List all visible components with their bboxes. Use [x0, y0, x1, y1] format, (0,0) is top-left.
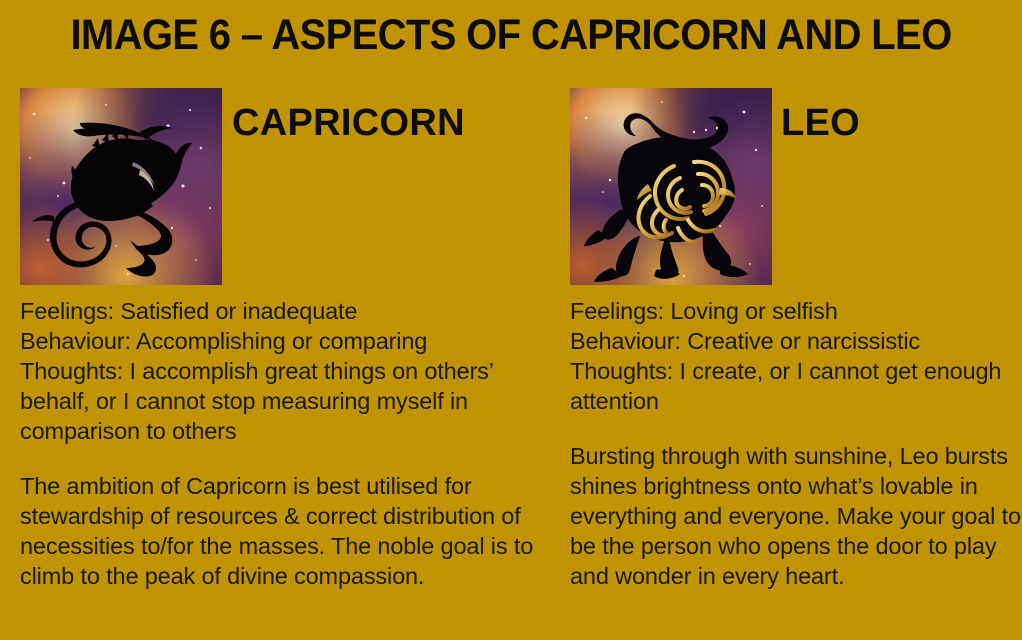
leo-lion-icon [570, 88, 772, 285]
slide-root: IMAGE 6 – ASPECTS OF CAPRICORN AND LEO [0, 0, 1022, 640]
capricorn-description-paragraph: The ambition of Capricorn is best utilis… [20, 471, 535, 591]
leo-description-paragraph: Bursting through with sunshine, Leo burs… [570, 441, 1022, 591]
capricorn-attributes-paragraph: Feelings: Satisfied or inadequateBehavio… [20, 296, 535, 446]
page-title: IMAGE 6 – ASPECTS OF CAPRICORN AND LEO [36, 13, 986, 58]
leo-image [570, 88, 772, 285]
leo-body-text: Feelings: Loving or selfishBehaviour: Cr… [570, 296, 1022, 591]
sign-label-capricorn: CAPRICORN [232, 102, 465, 145]
leo-attributes-paragraph: Feelings: Loving or selfishBehaviour: Cr… [570, 296, 1022, 416]
sign-label-leo: LEO [781, 102, 860, 145]
capricorn-sea-goat-icon [20, 88, 222, 285]
column-capricorn: CAPRICORN Feelings: Satisfied or inadequ… [20, 88, 535, 591]
capricorn-body-text: Feelings: Satisfied or inadequateBehavio… [20, 296, 535, 591]
capricorn-image [20, 88, 222, 285]
column-leo: LEO Feelings: Loving or selfishBehaviour… [570, 88, 1022, 591]
capricorn-header-row: CAPRICORN [20, 88, 535, 285]
leo-header-row: LEO [570, 88, 1022, 285]
